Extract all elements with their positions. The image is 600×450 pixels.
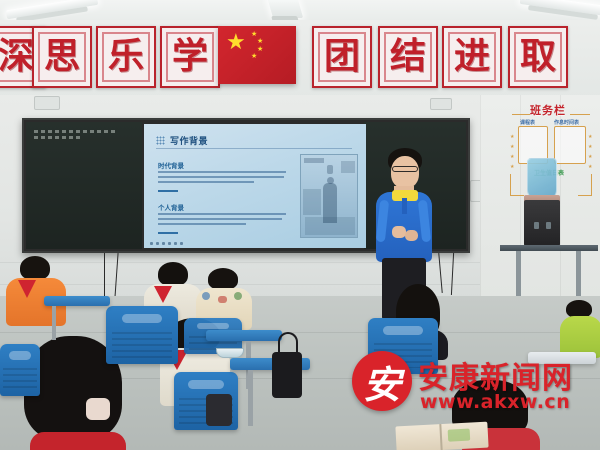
dot-grid-icon	[156, 136, 165, 145]
book-illustration	[448, 429, 471, 442]
dispenser-tap-cold[interactable]	[546, 222, 551, 229]
dispenser-desk-leg-1	[516, 251, 521, 299]
slogan-char-5: 团	[314, 28, 370, 86]
student-hair	[20, 256, 50, 280]
bulletin-star-2: ★	[510, 144, 514, 150]
slogan-char-4: 学	[162, 28, 218, 86]
shirt-pattern-3	[234, 292, 242, 300]
wall-speaker-left	[34, 96, 60, 110]
bulletin-star-5: ★	[588, 134, 592, 140]
slogan-card-7: 进	[442, 26, 502, 88]
chair-slats	[3, 364, 37, 391]
toolbar-icon-3[interactable]	[162, 242, 165, 245]
classroom-photo: 深 思 乐 学 ★ ★ ★ ★ ★ 团 结 进 取	[0, 0, 600, 450]
chalk-writing	[34, 130, 118, 144]
slide-toolbar[interactable]	[150, 242, 183, 245]
toolbar-icon-2[interactable]	[156, 242, 159, 245]
bulletin-title: 班务栏	[530, 102, 566, 118]
desk-2	[206, 330, 282, 341]
dispenser-tap-hot[interactable]	[534, 222, 539, 229]
toolbar-icon-5[interactable]	[174, 242, 177, 245]
slide-title: 写作背景	[170, 134, 208, 147]
flag-small-star-4: ★	[251, 53, 257, 60]
slogan-char-3: 乐	[98, 28, 154, 86]
teacher-hand-left	[392, 226, 406, 238]
shirt-pattern-2	[218, 296, 227, 303]
bowl-on-desk	[216, 348, 244, 358]
chair-3[interactable]	[0, 344, 40, 396]
chair-1[interactable]	[106, 306, 178, 364]
teacher-head	[391, 156, 419, 188]
watermark-logo-glyph: 安	[352, 351, 412, 411]
student-torso	[30, 432, 126, 450]
shirt-pattern-1	[202, 292, 210, 300]
bulletin-star-6: ★	[588, 144, 592, 150]
teacher-placket	[402, 198, 407, 214]
power-cable-1	[104, 253, 105, 299]
slogan-char-7: 进	[444, 28, 500, 86]
slide-section-2-body	[158, 213, 286, 228]
toolbar-icon-1[interactable]	[150, 242, 153, 245]
teacher-glasses	[392, 166, 418, 172]
backpack-2	[206, 394, 232, 426]
projection-screen[interactable]: 写作背景 时代背景 个人背景	[144, 124, 366, 248]
student-hair	[208, 268, 238, 290]
watermark-url: www.akxw.cn	[420, 391, 570, 413]
slogan-card-3: 乐	[96, 26, 156, 88]
bulletin-star-7: ★	[588, 154, 592, 160]
toolbar-icon-4[interactable]	[168, 242, 171, 245]
bulletin-sub-label-2: 作息时间表	[554, 119, 579, 126]
slide-section-1-bar	[158, 190, 178, 192]
student-hair	[158, 262, 188, 286]
watermark-logo-circle: 安	[352, 351, 412, 411]
bulletin-star-4: ★	[510, 164, 514, 170]
water-dispenser[interactable]	[524, 200, 560, 246]
slide-title-row: 写作背景	[156, 134, 208, 147]
slide-section-2-heading: 个人背景	[158, 202, 184, 212]
slide-divider	[156, 148, 352, 149]
slogan-card-5: 团	[312, 26, 372, 88]
slide-section-2-bar	[158, 232, 178, 234]
slogan-char-8: 取	[510, 28, 566, 86]
wall-speaker-right	[430, 98, 452, 110]
slogan-banner: 深 思 乐 学 ★ ★ ★ ★ ★ 团 结 进 取	[0, 26, 600, 88]
bulletin-deco-right	[570, 114, 590, 115]
student-face-mask	[86, 398, 110, 420]
floor-seam-1	[0, 332, 600, 333]
slide-section-1-body	[158, 171, 286, 186]
flag-small-star-3: ★	[257, 46, 263, 53]
dispenser-desk	[500, 245, 598, 251]
slide-illustration	[300, 154, 358, 238]
slogan-card-6: 结	[378, 26, 438, 88]
flag-small-star-2: ★	[257, 38, 263, 45]
dispenser-desk-leg-2	[576, 251, 581, 299]
bulletin-star-8: ★	[588, 164, 592, 170]
desk-1	[44, 296, 110, 306]
chair-slats	[112, 328, 173, 358]
bulletin-sub-label-1: 课程表	[520, 119, 535, 126]
bulletin-star-1: ★	[510, 134, 514, 140]
toolbar-icon-6[interactable]	[180, 242, 183, 245]
bulletin-star-3: ★	[510, 154, 514, 160]
water-jug-on-dispenser	[527, 158, 557, 200]
chinese-national-flag: ★ ★ ★ ★ ★	[218, 26, 296, 84]
desk-3-leg	[248, 370, 253, 426]
teacher-hand-right	[405, 230, 418, 241]
bulletin-bracket-br	[578, 174, 592, 196]
slogan-char-6: 结	[380, 28, 436, 86]
student-back-left	[6, 256, 68, 326]
flag-big-star: ★	[226, 32, 246, 54]
backpack-1-strap	[278, 332, 298, 354]
open-book	[395, 422, 488, 450]
slogan-char-2: 思	[34, 28, 90, 86]
desk-1-leg	[52, 306, 56, 340]
slogan-card-4: 学	[160, 26, 220, 88]
slogan-card-2: 思	[32, 26, 92, 88]
blackboard-left-panel	[26, 122, 142, 249]
watermark: 安 安康新闻网 www.akxw.cn	[352, 345, 596, 420]
book-spine	[439, 424, 442, 450]
bulletin-deco-left	[512, 114, 530, 115]
slide-section-1-heading: 时代背景	[158, 160, 184, 170]
bulletin-bracket-bl	[510, 174, 524, 196]
bulletin-panel-timetable	[554, 126, 586, 164]
slogan-card-8: 取	[508, 26, 568, 88]
backpack-1	[272, 352, 302, 398]
